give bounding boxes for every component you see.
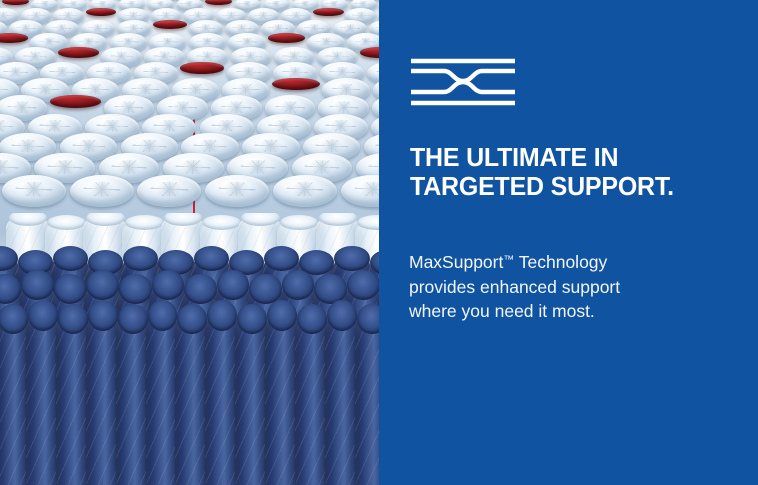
body-line-1-tail: Technology [514,252,607,272]
support-coil-red [268,33,305,43]
pocket-coil-navy [355,313,379,485]
pocket-coil-navy [295,313,329,485]
pocket-coil-navy [26,309,60,485]
support-coil-red [153,20,187,29]
support-coil-red [360,47,379,58]
support-coil-red [272,78,319,90]
pocket-coil-navy [146,309,180,485]
support-coil-red [86,8,117,16]
pocket-coil-white [137,175,201,207]
trademark-symbol: ™ [503,254,514,266]
body-copy: MaxSupport™ Technology provides enhanced… [409,250,699,324]
body-line-2: provides enhanced support [409,275,699,300]
pocket-coil-white [2,175,66,207]
support-coil-red [2,0,29,5]
pocket-coil-navy [175,313,209,485]
pocket-coil-white [341,175,379,207]
pocket-coil-white [205,175,269,207]
pocket-coil-navy [116,313,150,485]
pocket-coil-white [70,175,134,207]
pocket-coil-navy [325,309,359,485]
content-panel: THE ULTIMATE IN TARGETED SUPPORT. MaxSup… [379,0,758,485]
body-line-1: MaxSupport™ Technology [409,250,699,275]
pocket-coil-navy [265,309,299,485]
support-coil-red [313,8,344,16]
headline-line-2: TARGETED SUPPORT. [410,172,717,201]
product-name: MaxSupport [409,252,503,272]
pocket-coil-navy [56,313,90,485]
coil-row [0,175,379,207]
pocket-coil-white [273,175,337,207]
support-coil-red [0,33,28,43]
page-title: THE ULTIMATE IN TARGETED SUPPORT. [410,143,717,201]
pocket-coil-navy [205,309,239,485]
mattress-coil-photo [0,0,379,485]
support-coil-red [58,47,99,58]
support-coil-red [50,95,101,108]
coil-row-front [0,309,379,485]
navy-coil-front-layer [0,213,379,485]
headline-line-1: THE ULTIMATE IN [410,143,717,172]
maxsupport-wave-logo-icon [411,58,515,106]
support-coil-red [205,0,232,5]
pocket-coil-navy [86,309,120,485]
body-line-3: where you need it most. [409,299,699,324]
pocket-coil-navy [235,313,269,485]
support-coil-red [180,62,224,73]
promo-banner: THE ULTIMATE IN TARGETED SUPPORT. MaxSup… [0,0,758,485]
